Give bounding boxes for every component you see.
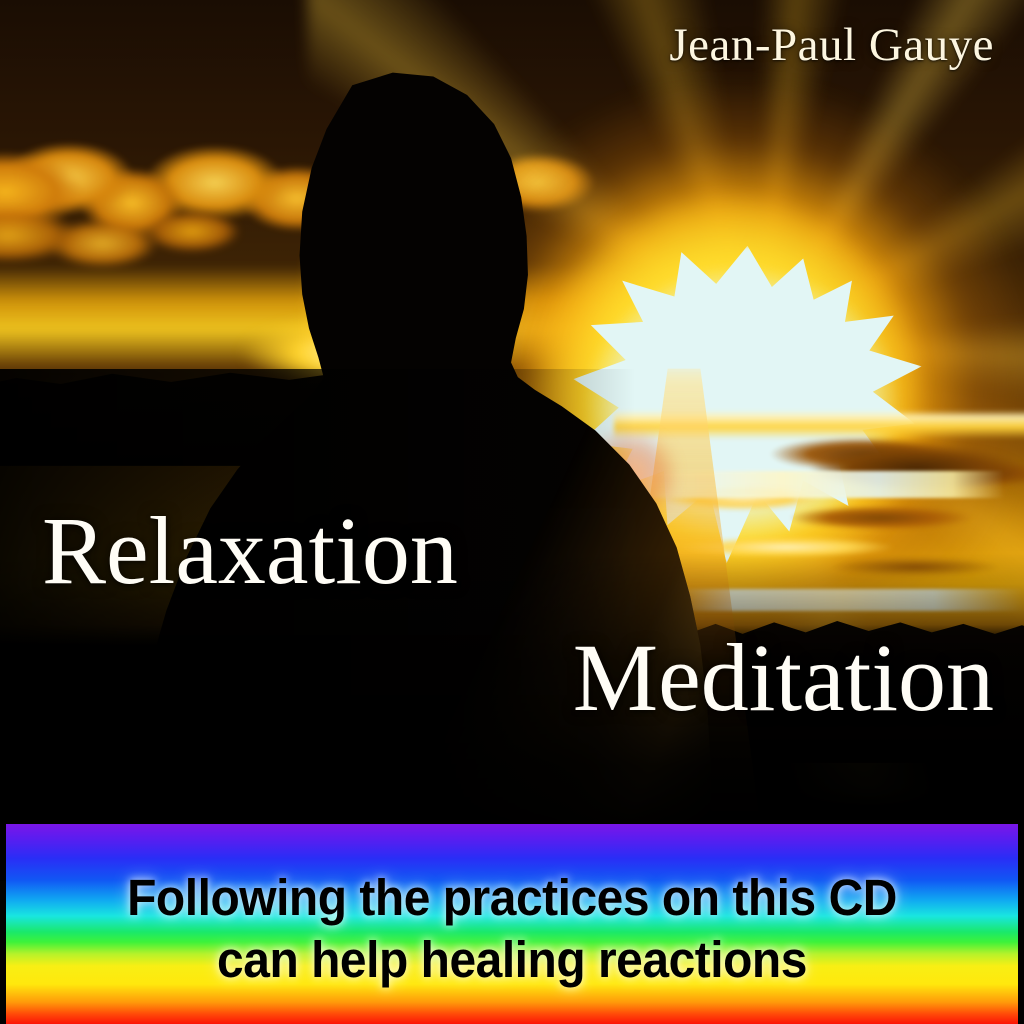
tagline-line-1: Following the practices on this CD — [36, 868, 987, 927]
artist-name: Jean-Paul Gauye — [669, 18, 994, 72]
album-cover-artwork: Jean-Paul Gauye Relaxation Meditation Fo… — [0, 0, 1024, 1024]
tagline-line-2: can help healing reactions — [36, 930, 987, 989]
rainbow-tagline-banner: Following the practices on this CD can h… — [6, 824, 1018, 1024]
album-title-line-2: Meditation — [573, 622, 994, 733]
album-title-line-1: Relaxation — [42, 495, 458, 606]
